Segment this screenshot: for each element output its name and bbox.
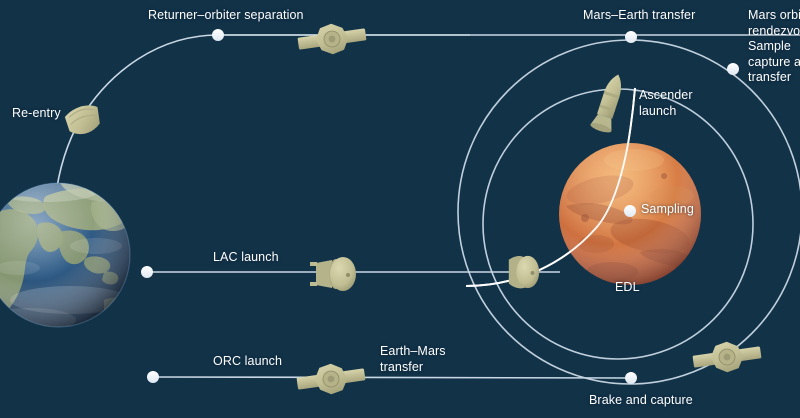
orc-orbiter-at-mars — [689, 324, 766, 389]
lac-lander — [310, 257, 356, 291]
orc-launch-node[interactable] — [147, 371, 159, 383]
diagram-canvas — [0, 0, 800, 418]
orc-launch-line — [153, 377, 631, 378]
earth-globe — [0, 177, 134, 332]
brake-and-capture-node[interactable] — [625, 372, 637, 384]
lac-launch-node[interactable] — [141, 266, 153, 278]
returner-orbiter-near-earth — [294, 8, 370, 70]
orc-orbiter — [293, 346, 370, 411]
ascender-rocket — [589, 71, 628, 134]
returner-orbiter-separation-node[interactable] — [212, 29, 224, 41]
sampling-node[interactable] — [624, 205, 636, 217]
re-entry-capsule — [62, 101, 105, 139]
mission-diagram: Returner–orbiter separation Re-entry Mar… — [0, 0, 800, 418]
mars-orbit-rendezvous-node[interactable] — [727, 63, 739, 75]
edl-aeroshell — [509, 256, 539, 288]
mars-earth-transfer-node[interactable] — [625, 31, 637, 43]
